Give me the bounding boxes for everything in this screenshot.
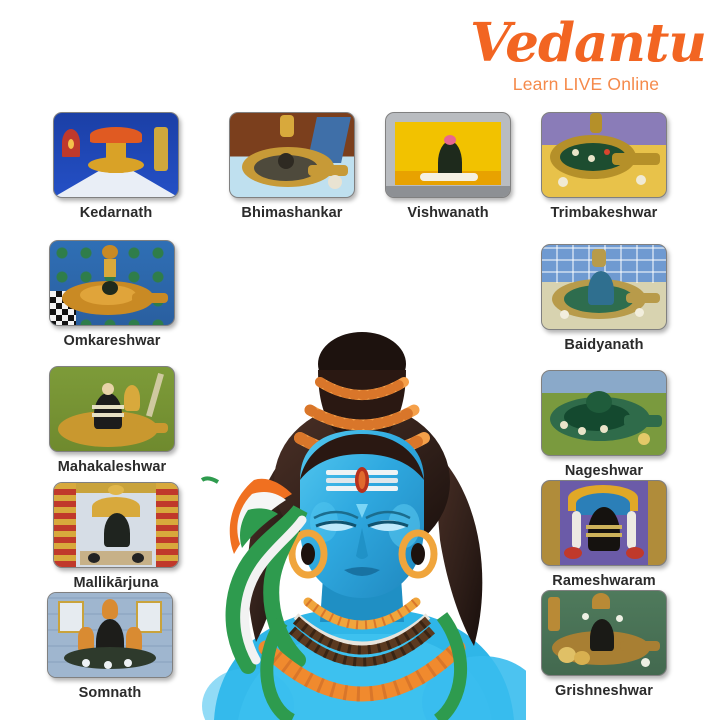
somnath-thumbnail[interactable] <box>47 592 173 678</box>
shrine-label: Bhimashankar <box>228 205 356 221</box>
nageshwar-thumbnail[interactable] <box>541 370 667 456</box>
brand-wordmark: Vedantu <box>470 14 702 72</box>
omkareshwar-thumbnail[interactable] <box>49 240 175 326</box>
shrine-kedarnath[interactable]: Kedarnath <box>52 112 180 221</box>
shrine-grishneshwar[interactable]: Grishneshwar <box>540 590 668 699</box>
shrine-trimbakeshwar[interactable]: Trimbakeshwar <box>540 112 668 221</box>
shrine-label: Grishneshwar <box>540 683 668 699</box>
kedarnath-thumbnail[interactable] <box>53 112 179 198</box>
rameshwaram-thumbnail[interactable] <box>541 480 667 566</box>
shrine-vishwanath[interactable]: Vishwanath <box>384 112 512 221</box>
shrine-nageshwar[interactable]: Nageshwar <box>540 370 668 479</box>
shiva-artwork <box>196 330 526 720</box>
brand-tagline: Learn LIVE Online <box>470 74 702 94</box>
shrine-rameshwaram[interactable]: Rameshwaram <box>540 480 668 589</box>
trimbakeshwar-thumbnail[interactable] <box>541 112 667 198</box>
shrine-somnath[interactable]: Somnath <box>46 592 174 701</box>
shrine-label: Mallikārjuna <box>52 575 180 591</box>
mahakaleshwar-thumbnail[interactable] <box>49 366 175 452</box>
shrine-baidyanath[interactable]: Baidyanath <box>540 244 668 353</box>
bhimashankar-thumbnail[interactable] <box>229 112 355 198</box>
shrine-bhimashankar[interactable]: Bhimashankar <box>228 112 356 221</box>
shrine-label: Mahakaleshwar <box>48 459 176 475</box>
vishwanath-thumbnail[interactable] <box>385 112 511 198</box>
shrine-mallikarjuna[interactable]: Mallikārjuna <box>52 482 180 591</box>
mallikarjuna-thumbnail[interactable] <box>53 482 179 568</box>
grishneshwar-thumbnail[interactable] <box>541 590 667 676</box>
shrine-mahakaleshwar[interactable]: Mahakaleshwar <box>48 366 176 475</box>
shrine-label: Rameshwaram <box>540 573 668 589</box>
baidyanath-thumbnail[interactable] <box>541 244 667 330</box>
shrine-label: Kedarnath <box>52 205 180 221</box>
shrine-label: Nageshwar <box>540 463 668 479</box>
shrine-label: Vishwanath <box>384 205 512 221</box>
shrine-omkareshwar[interactable]: Omkareshwar <box>48 240 176 349</box>
shrine-label: Somnath <box>46 685 174 701</box>
lord-shiva-illustration <box>196 330 526 720</box>
poster-canvas: Vedantu Learn LIVE Online <box>0 0 720 720</box>
shrine-label: Trimbakeshwar <box>540 205 668 221</box>
shrine-label: Omkareshwar <box>48 333 176 349</box>
shrine-label: Baidyanath <box>540 337 668 353</box>
vedantu-logo[interactable]: Vedantu Learn LIVE Online <box>470 14 702 100</box>
